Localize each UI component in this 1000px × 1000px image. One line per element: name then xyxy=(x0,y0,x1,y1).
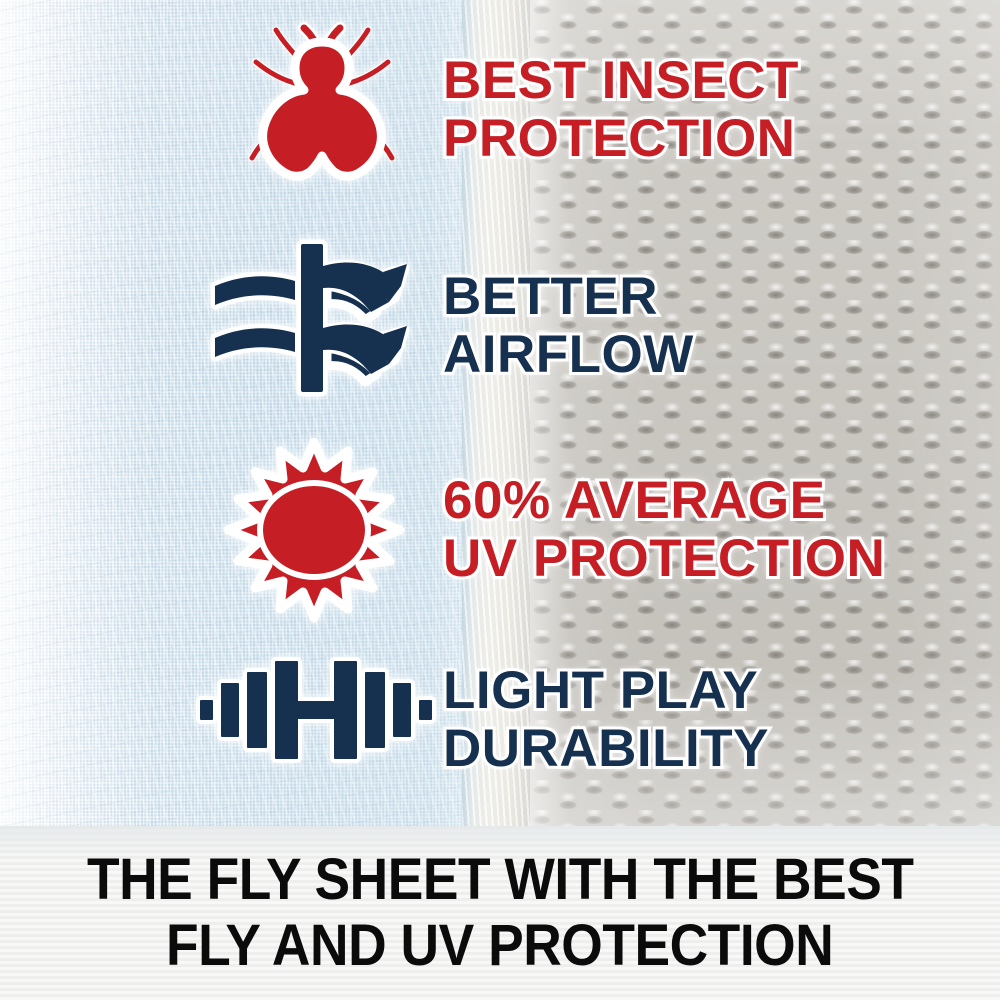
fly-icon-box xyxy=(232,22,412,202)
feature-line: LIGHT PLAY xyxy=(443,662,769,720)
feature-label-insect-protection: BEST INSECT PROTECTION xyxy=(443,52,799,168)
feature-label-airflow: BETTER AIRFLOW xyxy=(443,268,694,384)
airflow-icon xyxy=(205,238,420,398)
feature-line: AIRFLOW xyxy=(443,326,694,384)
banner-headline-line-2: FLY AND UV PROTECTION xyxy=(166,913,833,979)
dumbbell-icon xyxy=(196,655,436,765)
feature-line: 60% AVERAGE xyxy=(443,472,885,530)
banner-headline-line-1: THE FLY SHEET WITH THE BEST xyxy=(87,847,914,913)
airflow-icon-box xyxy=(205,238,420,398)
sun-icon-box xyxy=(214,438,414,623)
feature-line: BETTER xyxy=(443,268,694,326)
feature-row-insect-protection xyxy=(232,22,412,202)
feature-line: DURABILITY xyxy=(443,720,769,778)
feature-row-durability xyxy=(196,655,436,765)
feature-line: BEST INSECT xyxy=(443,52,799,110)
sun-icon xyxy=(214,438,414,623)
bottom-banner: THE FLY SHEET WITH THE BEST FLY AND UV P… xyxy=(0,826,1000,1000)
feature-label-durability: LIGHT PLAY DURABILITY xyxy=(443,662,769,778)
feature-label-uv-protection: 60% AVERAGE UV PROTECTION xyxy=(443,472,885,588)
feature-line: UV PROTECTION xyxy=(443,530,885,588)
dumbbell-icon-box xyxy=(196,655,436,765)
feature-line: PROTECTION xyxy=(443,110,799,168)
feature-row-airflow xyxy=(205,238,420,398)
fly-icon xyxy=(232,22,412,202)
feature-row-uv-protection xyxy=(214,438,414,623)
infographic-page: BEST INSECT PROTECTION xyxy=(0,0,1000,1000)
